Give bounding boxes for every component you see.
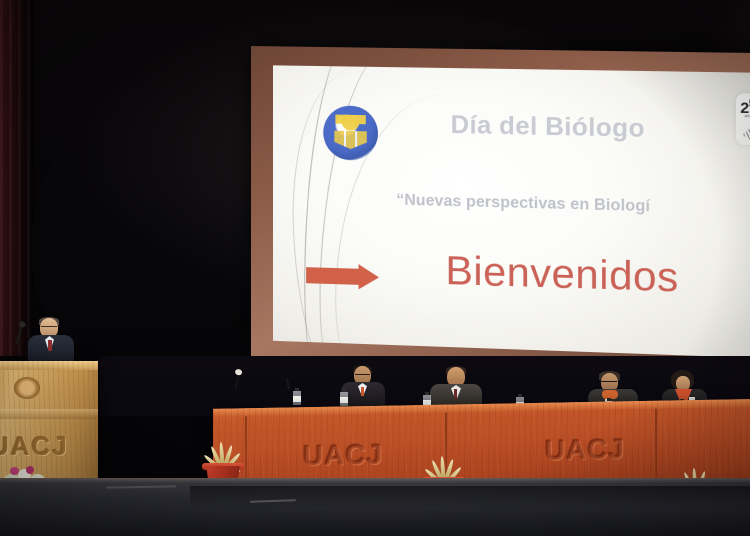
water-bottle	[340, 389, 348, 406]
badge-caption: años	[745, 113, 750, 118]
fish-swirl-icon	[742, 124, 750, 142]
water-bottle	[293, 388, 301, 405]
table-brand-left: UACJ	[303, 439, 383, 472]
table-brand-right: UACJ	[545, 433, 625, 466]
panelist-2	[430, 367, 482, 409]
presentation-slide: 25 años Día del Biólogo “Nuevas perspect…	[273, 65, 750, 359]
auditorium-scene: 25 años Día del Biólogo “Nuevas perspect…	[0, 0, 750, 536]
glasses-icon	[601, 381, 617, 384]
podium-band	[0, 409, 98, 419]
projection-screen: 25 años Día del Biólogo “Nuevas perspect…	[251, 46, 750, 378]
glasses-icon	[41, 326, 57, 329]
panelist-2-tie	[454, 389, 457, 399]
table-floor-shadow	[190, 486, 750, 508]
panelist-1-tie	[361, 387, 364, 396]
podium-seal-icon	[14, 377, 40, 399]
speaker-at-podium	[26, 318, 76, 366]
podium-brand: UACJ	[0, 431, 69, 462]
floor-highlight	[106, 485, 176, 488]
anniversary-badge: 25 años	[736, 93, 750, 146]
uacj-seal-icon	[323, 105, 378, 160]
slide-title: Día del Biólogo	[451, 111, 645, 144]
speaker-tie	[48, 340, 52, 351]
glasses-icon	[355, 374, 370, 377]
stage-curtain-left	[0, 0, 34, 356]
slide-welcome-text: Bienvenidos	[445, 249, 678, 302]
